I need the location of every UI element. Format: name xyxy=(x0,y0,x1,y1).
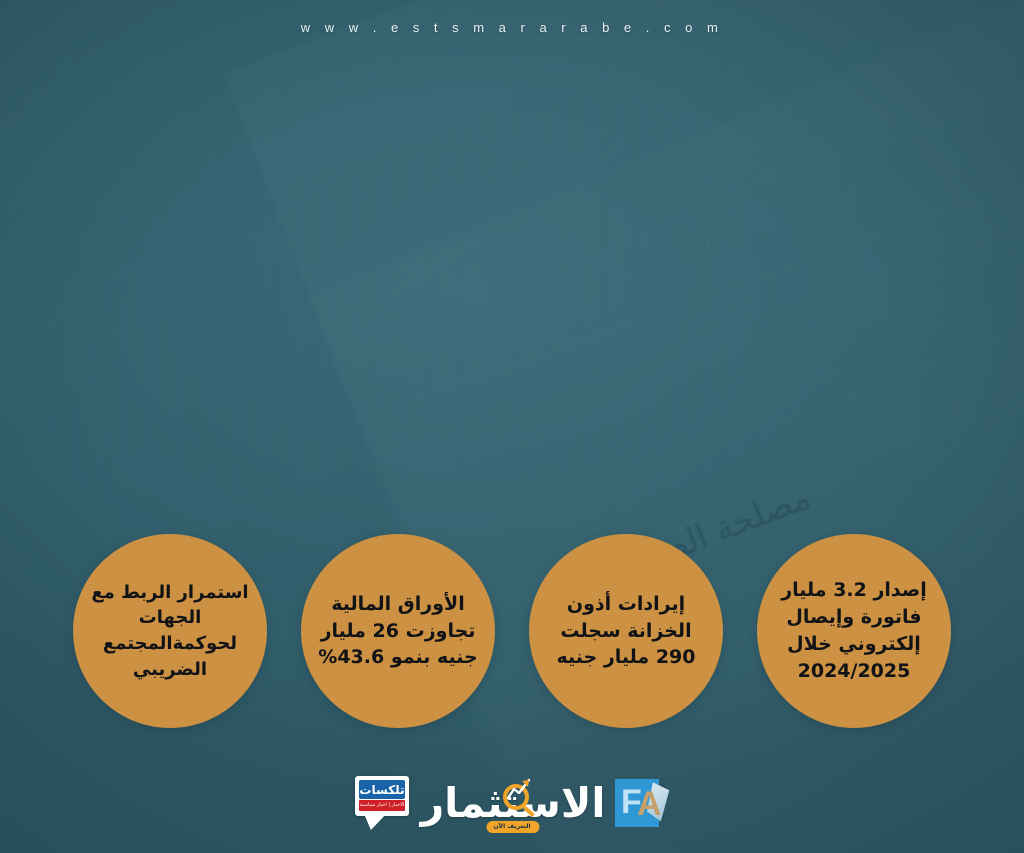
logo-fa-mark[interactable]: F A xyxy=(615,777,671,829)
stat-circle-securities-growth: الأوراق المالية تجاوزت 26 مليار جنيه بنم… xyxy=(301,534,495,728)
stat-circle-e-invoice-issuance: إصدار 3.2 مليار فاتورة وإيصال إلكتروني خ… xyxy=(757,534,951,728)
infographic-canvas: مصلحة الضرائب المصرية w w w . e s t s m … xyxy=(0,0,1024,853)
logo-telexat-subtitle: الاخبار | اخبار سياسية xyxy=(359,800,405,811)
statistics-circle-row: إصدار 3.2 مليار فاتورة وإيصال إلكتروني خ… xyxy=(0,533,1024,729)
stat-circle-text: الأوراق المالية تجاوزت 26 مليار جنيه بنم… xyxy=(313,591,483,672)
logo-telexat[interactable]: تلكسات الاخبار | اخبار سياسية xyxy=(353,776,411,830)
site-url-watermark: w w w . e s t s m a r a r a b e . c o m xyxy=(0,20,1024,35)
speech-bubble-tail-icon xyxy=(362,814,386,830)
logo-al-estithmar-tagline: التعريف الآن xyxy=(486,821,539,833)
stat-circle-entity-linkage-governance: استمرار الربط مع الجهات لحوكمةالمجتمع ال… xyxy=(73,534,267,728)
logo-al-estithmar[interactable]: الاستثمار التعريف الآن xyxy=(429,774,597,832)
stat-circle-treasury-bills-revenue: إيرادات أذون الخزانة سجلت 290 مليار جنيه xyxy=(529,534,723,728)
stat-circle-text: إيرادات أذون الخزانة سجلت 290 مليار جنيه xyxy=(541,591,711,672)
logo-telexat-name: تلكسات xyxy=(359,780,405,799)
growth-arrow-icon xyxy=(507,778,533,800)
footer-logo-strip: تلكسات الاخبار | اخبار سياسية الاستثمار … xyxy=(0,771,1024,835)
logo-fa-letter-a: A xyxy=(637,787,662,821)
stat-circle-text: إصدار 3.2 مليار فاتورة وإيصال إلكتروني خ… xyxy=(769,577,939,685)
stat-circle-text: استمرار الربط مع الجهات لحوكمةالمجتمع ال… xyxy=(85,580,255,682)
